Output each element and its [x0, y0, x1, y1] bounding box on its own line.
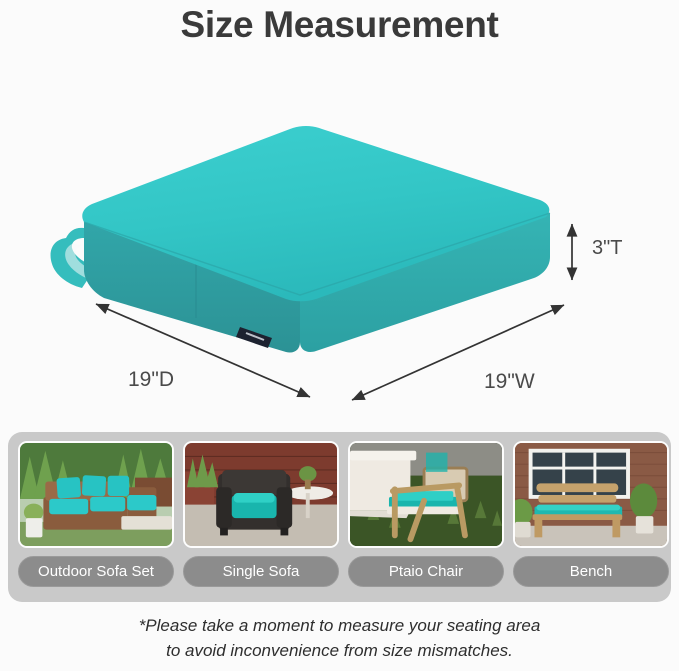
gallery-photo-ptaio-chair[interactable]: [348, 441, 504, 548]
footer-note-line-1: *Please take a moment to measure your se…: [0, 614, 679, 639]
gallery-photo-outdoor-sofa-set[interactable]: [18, 441, 174, 548]
gallery-photo-bench[interactable]: [513, 441, 669, 548]
gallery-label-row: Outdoor Sofa Set Single Sofa Ptaio Chair…: [18, 556, 661, 588]
infographic-page: Size Measurement: [0, 0, 679, 671]
cushion-illustration: [0, 52, 679, 422]
gallery-photo-row: [18, 441, 661, 548]
depth-label: 19"D: [128, 368, 174, 392]
gallery-label-ptaio-chair[interactable]: Ptaio Chair: [348, 556, 504, 587]
gallery-label-single-sofa[interactable]: Single Sofa: [183, 556, 339, 587]
cushion-diagram: 3"T 19"D 19"W: [0, 52, 679, 422]
use-case-gallery: Outdoor Sofa Set Single Sofa Ptaio Chair…: [8, 432, 671, 602]
footer-note-line-2: to avoid inconvenience from size mismatc…: [0, 639, 679, 664]
width-label: 19"W: [484, 370, 535, 394]
page-title: Size Measurement: [0, 4, 679, 46]
footer-note: *Please take a moment to measure your se…: [0, 614, 679, 663]
thickness-label: 3"T: [592, 237, 622, 260]
gallery-photo-single-sofa[interactable]: [183, 441, 339, 548]
gallery-label-bench[interactable]: Bench: [513, 556, 669, 587]
gallery-label-outdoor-sofa-set[interactable]: Outdoor Sofa Set: [18, 556, 174, 587]
